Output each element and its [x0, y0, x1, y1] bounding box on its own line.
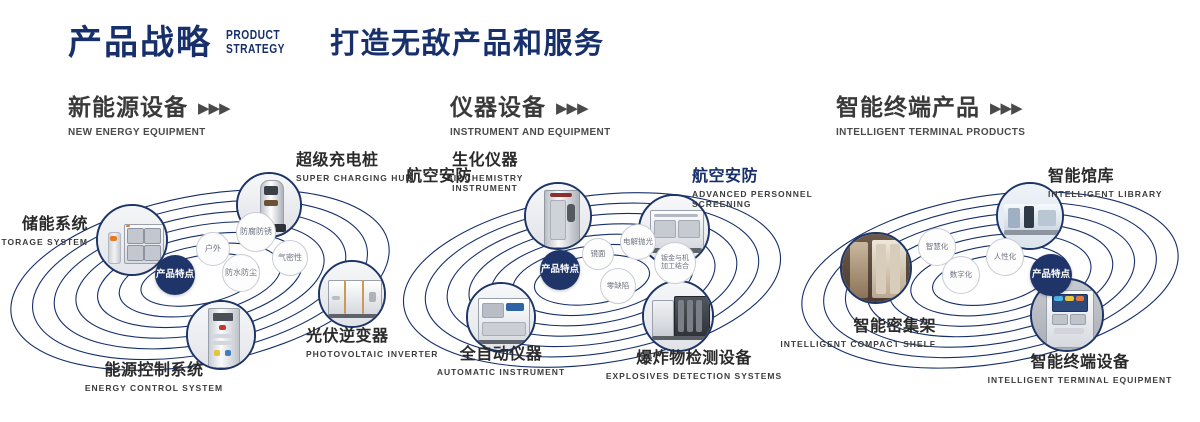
section-1-label-en: NEW ENERGY EQUIPMENT — [68, 126, 222, 138]
compact-shelf-photo — [842, 234, 910, 302]
section-title-instrument: 仪器设备 ▶▶▶ INSTRUMENT AND EQUIPMENT — [450, 96, 619, 138]
caption-cn: 生化仪器 — [420, 152, 550, 170]
caption-en: INTELLIGENT TERMINAL EQUIPMENT — [960, 375, 1200, 386]
chevrons-right-icon: ▶▶▶ — [990, 99, 1022, 117]
chevrons-right-icon: ▶▶▶ — [556, 99, 588, 117]
page-title-en-line1: PRODUCT — [226, 28, 285, 42]
feature-bubble-airtight: 气密性 — [272, 240, 308, 276]
caption-cn: 储能系统 — [0, 216, 88, 234]
energy-control-photo — [188, 302, 254, 368]
caption-en: EXPLOSIVES DETECTION SYSTEMS — [574, 371, 814, 382]
product-strategy-infographic: 产品战略 PRODUCT STRATEGY 打造无敌产品和服务 新能源设备 ▶▶… — [0, 0, 1200, 422]
node-photovoltaic-inverter[interactable] — [318, 260, 386, 328]
page-title: 产品战略 — [68, 26, 212, 60]
feature-bubble-electropolishing: 电解抛光 — [620, 224, 656, 260]
feature-bubble-humanized: 人性化 — [986, 238, 1024, 276]
caption-cn: 智能密集架 — [746, 318, 936, 336]
feature-bubble-mirror-finish: 镜面 — [582, 238, 614, 270]
cluster-intelligent-terminal: 智能馆库 INTELLIGENT LIBRARY 智能密集架 INTELLIGE… — [790, 150, 1190, 410]
bubble-text: 智慧化 — [926, 243, 949, 251]
caption-intelligent-compact-shelf: 智能密集架 INTELLIGENT COMPACT SHELF — [746, 318, 936, 349]
caption-en: ENERGY CONTROL SYSTEM — [24, 383, 284, 394]
caption-en: INTELLIGENT COMPACT SHELF — [746, 339, 936, 350]
bubble-text: 防水防尘 — [225, 269, 257, 278]
caption-en: ENERGY STORAGE SYSTEM — [0, 237, 88, 248]
bubble-text: 气密性 — [278, 254, 302, 263]
caption-explosives-detection-systems: 爆炸物检测设备 EXPLOSIVES DETECTION SYSTEMS — [574, 350, 814, 381]
node-energy-control-system[interactable] — [186, 300, 256, 370]
pv-inverter-photo — [320, 262, 384, 326]
core-text: 产品特点 — [541, 265, 579, 276]
feature-bubble-anticorrosion: 防腐防锈 — [236, 212, 276, 252]
bubble-text: 钣金与机加工结合 — [658, 255, 692, 271]
bubble-text: 户外 — [205, 245, 221, 254]
caption-energy-control-system: 能源控制系统 ENERGY CONTROL SYSTEM — [24, 362, 284, 393]
bubble-text: 数字化 — [950, 271, 973, 279]
section-2-label-cn: 仪器设备 — [450, 96, 546, 119]
node-explosives-detection-systems[interactable] — [642, 280, 714, 352]
cluster-instrument: 生化仪器 BIOCHEMISTRY INSTRUMENT 航空安防 航空安防 A… — [392, 150, 792, 410]
bubble-text: 镜面 — [591, 250, 606, 258]
core-label-product-features-2: 产品特点 — [540, 250, 580, 290]
feature-bubble-digitalized: 数字化 — [942, 256, 980, 294]
core-label-product-features-1: 产品特点 — [155, 255, 195, 295]
caption-cn: 爆炸物检测设备 — [574, 350, 814, 368]
caption-cn: 智能馆库 — [1048, 168, 1200, 186]
core-text: 产品特点 — [156, 270, 194, 281]
feature-bubble-sheetmetal-machining: 钣金与机加工结合 — [654, 242, 696, 284]
bubble-text: 电解抛光 — [623, 238, 653, 246]
page-header: 产品战略 PRODUCT STRATEGY — [68, 26, 298, 60]
bubble-text: 防腐防锈 — [240, 228, 272, 237]
section-2-label-en: INSTRUMENT AND EQUIPMENT — [450, 126, 611, 138]
caption-cn: 能源控制系统 — [24, 362, 284, 380]
page-subtitle: 打造无敌产品和服务 — [330, 30, 605, 59]
page-title-en: PRODUCT STRATEGY — [226, 28, 285, 60]
energy-storage-photo — [98, 206, 166, 274]
caption-intelligent-terminal-equipment: 智能终端设备 INTELLIGENT TERMINAL EQUIPMENT — [960, 354, 1200, 385]
chevrons-right-icon: ▶▶▶ — [198, 99, 230, 117]
section-1-label-cn: 新能源设备 — [68, 96, 188, 119]
section-title-new-energy: 新能源设备 ▶▶▶ NEW ENERGY EQUIPMENT — [68, 96, 230, 138]
section-title-intelligent-terminal: 智能终端产品 ▶▶▶ INTELLIGENT TERMINAL PRODUCTS — [836, 96, 1035, 138]
automatic-instrument-photo — [468, 284, 534, 350]
node-automatic-instrument[interactable] — [466, 282, 536, 352]
cluster-new-energy: 储能系统 ENERGY STORAGE SYSTEM 超级充电桩 SUPER C… — [0, 150, 400, 410]
bubble-text: 人性化 — [994, 253, 1017, 261]
caption-cn: 智能终端设备 — [960, 354, 1200, 372]
core-text: 产品特点 — [1032, 270, 1070, 281]
caption-en: INTELLIGENT LIBRARY — [1048, 189, 1200, 200]
node-intelligent-compact-shelf[interactable] — [840, 232, 912, 304]
page-title-en-line2: STRATEGY — [226, 42, 285, 56]
feature-bubble-waterproof: 防水防尘 — [222, 254, 260, 292]
feature-bubble-zero-defect: 零缺陷 — [600, 268, 636, 304]
bubble-text: 零缺陷 — [607, 282, 630, 290]
section-3-label-en: INTELLIGENT TERMINAL PRODUCTS — [836, 126, 1025, 138]
explosives-detection-photo — [644, 282, 712, 350]
caption-cn: 航空安防 — [406, 168, 506, 186]
caption-aviation-security-left: 航空安防 — [406, 168, 506, 186]
section-3-label-cn: 智能终端产品 — [836, 96, 980, 119]
caption-intelligent-library: 智能馆库 INTELLIGENT LIBRARY — [1048, 168, 1200, 199]
caption-energy-storage-system: 储能系统 ENERGY STORAGE SYSTEM — [0, 216, 88, 247]
core-label-product-features-3: 产品特点 — [1030, 254, 1072, 296]
